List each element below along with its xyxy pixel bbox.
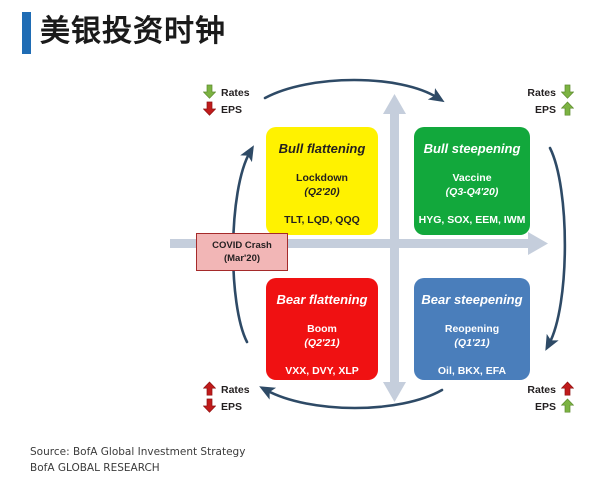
eps-label: EPS — [221, 400, 242, 415]
corner-labels-top-right: Rates EPS — [508, 86, 574, 118]
cycle-arc-right-icon — [549, 148, 565, 344]
quadrant-theme: Vaccine — [452, 171, 491, 185]
quadrant-theme: Reopening — [445, 322, 499, 336]
quadrant-period: (Q3-Q4'20) — [446, 185, 499, 199]
cycle-arc-top-icon — [265, 80, 438, 98]
quadrant-bear-flattening[interactable]: Bear flattening Boom (Q2'21) VXX, DVY, X… — [266, 278, 378, 380]
callout-line-2: (Mar'20) — [224, 252, 260, 265]
quadrant-theme: Boom — [307, 322, 337, 336]
quadrant-bear-steepening[interactable]: Bear steepening Reopening (Q1'21) Oil, B… — [414, 278, 530, 380]
eps-row: EPS — [203, 103, 250, 118]
page-title: 美银投资时钟 — [40, 11, 226, 53]
corner-labels-bottom-right: Rates EPS — [508, 383, 574, 415]
arrow-up-icon — [561, 101, 574, 121]
quadrant-period: (Q1'21) — [454, 336, 489, 350]
rates-label: Rates — [221, 383, 250, 398]
rates-row: Rates — [203, 86, 250, 101]
eps-row: EPS — [203, 400, 250, 415]
rates-row: Rates — [508, 86, 574, 101]
quadrant-tickers: Oil, BKX, EFA — [438, 364, 506, 378]
title-accent-bar — [22, 12, 31, 54]
quadrant-title: Bull steepening — [424, 141, 521, 157]
corner-labels-bottom-left: Rates EPS — [203, 383, 250, 415]
quadrant-period: (Q2'21) — [304, 336, 339, 350]
corner-labels-top-left: Rates EPS — [203, 86, 250, 118]
source-line-2: BofA GLOBAL RESEARCH — [30, 460, 245, 476]
quadrant-tickers: VXX, DVY, XLP — [285, 364, 359, 378]
eps-label: EPS — [535, 103, 556, 118]
arrow-down-icon — [203, 398, 216, 418]
eps-row: EPS — [508, 400, 574, 415]
quadrant-title: Bear flattening — [276, 292, 367, 308]
rates-row: Rates — [508, 383, 574, 398]
eps-label: EPS — [221, 103, 242, 118]
covid-crash-callout[interactable]: COVID Crash (Mar'20) — [196, 233, 288, 271]
quadrant-bull-flattening[interactable]: Bull flattening Lockdown (Q2'20) TLT, LQ… — [266, 127, 378, 235]
rates-row: Rates — [203, 383, 250, 398]
rates-label: Rates — [527, 383, 556, 398]
quadrant-theme: Lockdown — [296, 171, 348, 185]
source-line-1: Source: BofA Global Investment Strategy — [30, 444, 245, 460]
eps-label: EPS — [535, 400, 556, 415]
rates-label: Rates — [527, 86, 556, 101]
rates-label: Rates — [221, 86, 250, 101]
quadrant-title: Bear steepening — [421, 292, 522, 308]
quadrant-tickers: TLT, LQD, QQQ — [284, 213, 360, 227]
quadrant-period: (Q2'20) — [304, 185, 339, 199]
arrow-down-icon — [203, 101, 216, 121]
quadrant-title: Bull flattening — [279, 141, 366, 157]
quadrant-tickers: HYG, SOX, EEM, IWM — [419, 213, 526, 227]
callout-line-1: COVID Crash — [212, 239, 272, 252]
eps-row: EPS — [508, 103, 574, 118]
cycle-arc-bottom-icon — [266, 390, 442, 408]
arrow-up-icon — [561, 398, 574, 418]
investment-clock-diagram: Bull flattening Lockdown (Q2'20) TLT, LQ… — [0, 70, 607, 430]
quadrant-bull-steepening[interactable]: Bull steepening Vaccine (Q3-Q4'20) HYG, … — [414, 127, 530, 235]
source-footer: Source: BofA Global Investment Strategy … — [30, 444, 245, 476]
